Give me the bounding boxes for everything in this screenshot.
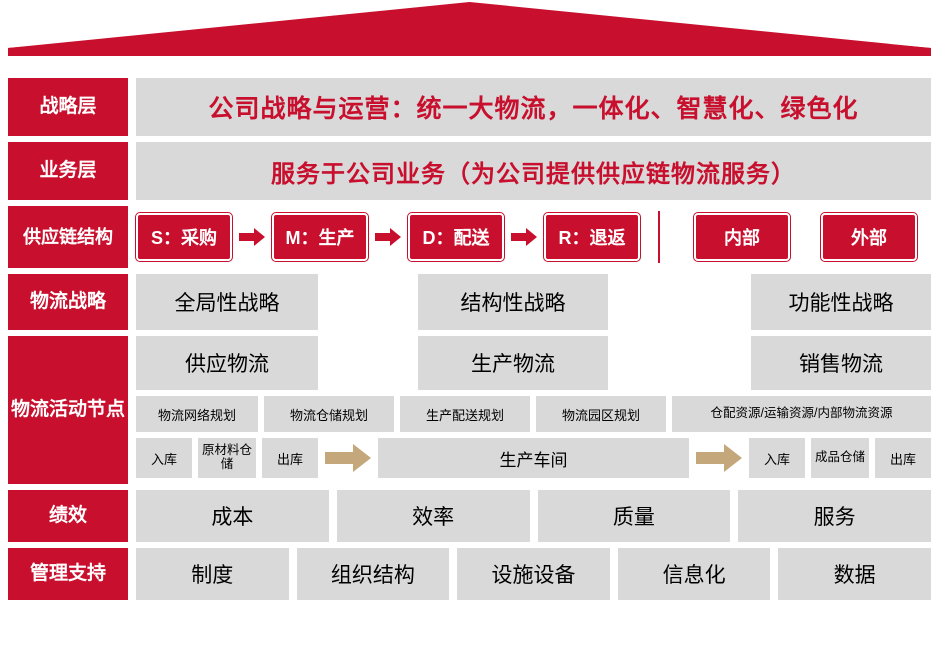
vertical-divider [658, 211, 660, 263]
arrow-right-icon [239, 228, 265, 246]
arrow-right-icon [375, 228, 401, 246]
strategy-layer-statement: 公司战略与运营：统一大物流，一体化、智慧化、绿色化 [136, 78, 931, 136]
management-support-cells: 制度 组织结构 设施设备 信息化 数据 [136, 548, 931, 600]
activity-flow-row: 入库 原材料仓储 出库 生产车间 入库 成品仓储 出 [136, 438, 931, 478]
row-label-logistics-activity: 物流活动节点 [8, 336, 128, 484]
activity-main-row: 供应物流 生产物流 销售物流 [136, 336, 931, 390]
supply-chain-box-returns[interactable]: R：退返 [544, 213, 640, 261]
row-label-logistics-strategy: 物流战略 [8, 274, 128, 330]
performance-cell-cost[interactable]: 成本 [136, 490, 329, 542]
arrow-right-icon [511, 228, 537, 246]
management-cell-system[interactable]: 制度 [136, 548, 289, 600]
row-strategy-layer: 战略层 公司战略与运营：统一大物流，一体化、智慧化、绿色化 [8, 78, 931, 136]
logistics-activity-stack: 供应物流 生产物流 销售物流 物流网络规划 物流仓储规划 生产配送规划 物流园区… [136, 336, 931, 484]
row-logistics-activity: 物流活动节点 供应物流 生产物流 销售物流 物流网络规划 物流仓储规划 生产配送… [8, 336, 931, 484]
logistics-strategy-cells: 全局性战略 结构性战略 功能性战略 [136, 274, 931, 330]
management-cell-org-structure[interactable]: 组织结构 [297, 548, 450, 600]
row-label-performance: 绩效 [8, 490, 128, 542]
activity-cell-supply-logistics[interactable]: 供应物流 [136, 336, 318, 390]
supply-chain-box-distribution[interactable]: D：配送 [408, 213, 504, 261]
flow-cell-raw-material-storage[interactable]: 原材料仓储 [198, 438, 256, 478]
performance-cells: 成本 效率 质量 服务 [136, 490, 931, 542]
supply-chain-box-procurement[interactable]: S：采购 [136, 213, 232, 261]
row-logistics-strategy: 物流战略 全局性战略 结构性战略 功能性战略 [8, 274, 931, 330]
row-label-supply-chain: 供应链结构 [8, 206, 128, 268]
flow-cell-inbound-right[interactable]: 入库 [749, 438, 805, 478]
roof-shape [0, 0, 939, 56]
activity-cell-production-logistics[interactable]: 生产物流 [418, 336, 608, 390]
row-label-business-layer: 业务层 [8, 142, 128, 200]
flow-cell-workshop[interactable]: 生产车间 [378, 438, 689, 478]
activity-cell-sales-logistics[interactable]: 销售物流 [751, 336, 931, 390]
management-cell-facilities[interactable]: 设施设备 [457, 548, 610, 600]
activity-plan-row: 物流网络规划 物流仓储规划 生产配送规划 物流园区规划 仓配资源/运输资源/内部… [136, 396, 931, 432]
supply-chain-box-production[interactable]: M：生产 [272, 213, 368, 261]
row-management-support: 管理支持 制度 组织结构 设施设备 信息化 数据 [8, 548, 931, 600]
block-arrow-right-icon [689, 438, 749, 478]
row-business-layer: 业务层 服务于公司业务（为公司提供供应链物流服务） [8, 142, 931, 200]
flow-cell-outbound-left[interactable]: 出库 [262, 438, 318, 478]
supply-chain-box-external[interactable]: 外部 [821, 213, 917, 261]
flow-cell-inbound-left[interactable]: 入库 [136, 438, 192, 478]
supply-chain-box-internal[interactable]: 内部 [694, 213, 790, 261]
row-label-management-support: 管理支持 [8, 548, 128, 600]
management-cell-data[interactable]: 数据 [778, 548, 931, 600]
flow-cell-outbound-right[interactable]: 出库 [875, 438, 931, 478]
block-arrow-right-icon [318, 438, 378, 478]
roof-banner [0, 0, 939, 56]
plan-cell-network-planning[interactable]: 物流网络规划 [136, 396, 258, 432]
logistics-strategy-cell-global[interactable]: 全局性战略 [136, 274, 318, 330]
flow-cell-finished-goods-storage[interactable]: 成品仓储 [811, 438, 869, 478]
plan-cell-production-distribution-planning[interactable]: 生产配送规划 [400, 396, 530, 432]
logistics-strategy-cell-structural[interactable]: 结构性战略 [418, 274, 608, 330]
performance-cell-efficiency[interactable]: 效率 [337, 490, 530, 542]
framework-grid: 战略层 公司战略与运营：统一大物流，一体化、智慧化、绿色化 业务层 服务于公司业… [8, 78, 931, 606]
supply-chain-flow: S：采购 M：生产 D：配送 R：退返 内部 外部 [136, 206, 931, 268]
row-supply-chain: 供应链结构 S：采购 M：生产 D：配送 R：退返 内部 外部 [8, 206, 931, 268]
row-performance: 绩效 成本 效率 质量 服务 [8, 490, 931, 542]
performance-cell-quality[interactable]: 质量 [538, 490, 731, 542]
row-label-strategy-layer: 战略层 [8, 78, 128, 136]
management-cell-informatization[interactable]: 信息化 [618, 548, 771, 600]
business-layer-statement: 服务于公司业务（为公司提供供应链物流服务） [136, 142, 931, 200]
logistics-strategy-cell-functional[interactable]: 功能性战略 [751, 274, 931, 330]
plan-cell-park-planning[interactable]: 物流园区规划 [536, 396, 666, 432]
plan-cell-warehouse-planning[interactable]: 物流仓储规划 [264, 396, 394, 432]
performance-cell-service[interactable]: 服务 [738, 490, 931, 542]
plan-cell-resources[interactable]: 仓配资源/运输资源/内部物流资源 [672, 396, 931, 432]
